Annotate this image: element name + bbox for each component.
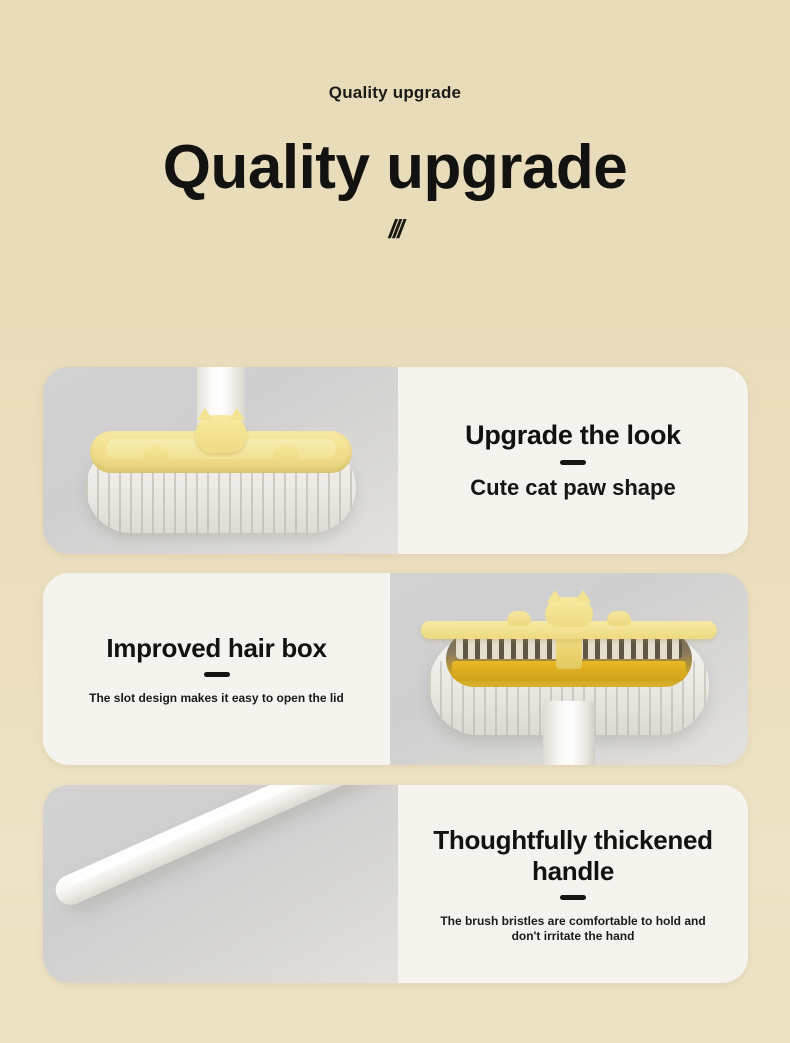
ribbed-texture <box>86 467 356 533</box>
cat-ear-right-icon <box>575 590 591 602</box>
rod-highlight <box>69 785 349 886</box>
feature-subtitle-1: Cute cat paw shape <box>470 475 675 501</box>
handle-pole-shape <box>543 701 595 765</box>
feature-subtitle-3-line1: The brush bristles are comfortable to ho… <box>440 914 705 929</box>
feature-title-1: Upgrade the look <box>465 420 681 451</box>
divider-dash <box>204 672 230 677</box>
paw-bump-left-icon <box>507 611 531 626</box>
page-title: Quality upgrade <box>0 136 790 200</box>
product-photo-handle-rod <box>43 785 398 983</box>
page-header: Quality upgrade Quality upgrade /// <box>0 0 790 245</box>
feature-text-panel-3: Thoughtfully thickened handle The brush … <box>398 785 748 983</box>
paw-bump-right-icon <box>273 445 299 462</box>
feature-text-panel-1: Upgrade the look Cute cat paw shape <box>398 367 748 554</box>
feature-card-thickened-handle[interactable]: Thoughtfully thickened handle The brush … <box>43 785 748 983</box>
feature-subtitle-3-line2: don't irritate the hand <box>512 929 635 944</box>
header-eyebrow: Quality upgrade <box>0 83 790 103</box>
feature-card-improved-hair-box[interactable]: Improved hair box The slot design makes … <box>43 573 748 765</box>
infographic-page: Quality upgrade Quality upgrade /// Upgr… <box>0 0 790 1043</box>
divider-dash <box>560 895 586 900</box>
cat-face-icon <box>195 415 247 453</box>
handle-rod-shape <box>51 785 378 910</box>
feature-subtitle-2: The slot design makes it easy to open th… <box>89 691 344 706</box>
product-photo-brush-head <box>43 367 398 554</box>
cat-ear-left-icon <box>197 408 213 420</box>
divider-dash <box>560 460 586 465</box>
cat-face-icon <box>545 597 593 627</box>
feature-text-panel-2: Improved hair box The slot design makes … <box>43 573 390 765</box>
product-photo-open-hair-box <box>390 573 748 765</box>
feature-title-3: Thoughtfully thickened handle <box>412 825 734 887</box>
feature-title-2: Improved hair box <box>106 633 326 664</box>
cat-ear-left-icon <box>547 590 563 602</box>
feature-card-upgrade-the-look[interactable]: Upgrade the look Cute cat paw shape <box>43 367 748 554</box>
paw-bump-left-icon <box>143 445 169 462</box>
cat-ear-right-icon <box>229 408 245 420</box>
slash-divider-icon: /// <box>0 214 790 245</box>
paw-bump-right-icon <box>607 611 631 626</box>
